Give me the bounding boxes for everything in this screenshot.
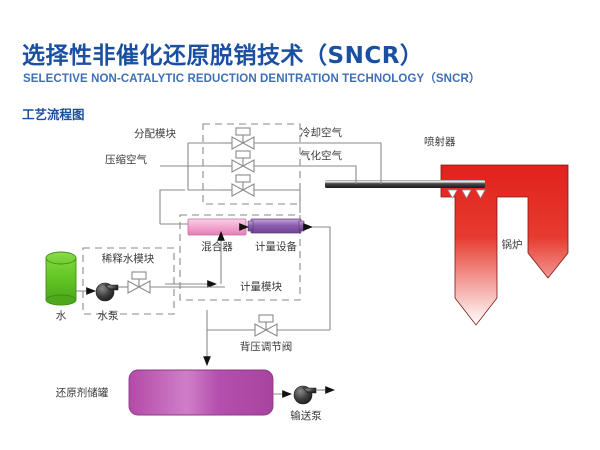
reductant-tank xyxy=(129,370,273,415)
valve-cooling-air xyxy=(222,128,300,149)
process-flow-diagram: 锅炉 喷射器 分配模块 压缩空气 xyxy=(0,0,600,450)
reductant-tank-label: 还原剂储罐 xyxy=(56,386,109,399)
cooling-air-label: 冷却空气 xyxy=(300,126,342,139)
back-pressure-valve-label: 背压调节阀 xyxy=(240,340,293,353)
mixer-vessel xyxy=(188,219,246,235)
metering-module-label: 计量模块 xyxy=(240,280,282,293)
mixer-label: 混合器 xyxy=(201,240,233,253)
transfer-pump-label: 输送泵 xyxy=(290,409,322,422)
valve-dilution-water xyxy=(118,272,225,293)
reductant-tank-group: 还原剂储罐 输送泵 xyxy=(56,370,334,422)
metering-device-label: 计量设备 xyxy=(255,240,297,253)
water-label: 水 xyxy=(56,310,67,322)
boiler-label: 锅炉 xyxy=(502,239,523,251)
water-tank xyxy=(46,252,76,305)
valve-to-mixer xyxy=(222,175,300,196)
gasification-air-label: 气化空气 xyxy=(300,149,342,162)
water-pump xyxy=(96,283,118,301)
water-pump-label: 水泵 xyxy=(98,310,119,322)
distribution-module-group: 分配模块 压缩空气 xyxy=(105,124,381,224)
distribution-module-label: 分配模块 xyxy=(134,128,176,140)
injector-label: 喷射器 xyxy=(424,135,456,148)
boiler-group: 锅炉 xyxy=(441,165,568,325)
compressed-air-label: 压缩空气 xyxy=(105,153,147,166)
dilution-water-module-label: 稀释水模块 xyxy=(102,252,155,265)
valve-gasification-air xyxy=(222,151,300,172)
dilution-water-module-group: 稀释水模块 水 水泵 xyxy=(46,248,225,322)
slide-page: 选择性非催化还原脱销技术（SNCR） SELECTIVE NON-CATALYT… xyxy=(0,0,600,450)
transfer-pump xyxy=(294,386,316,404)
metering-device-vessel xyxy=(251,219,301,233)
